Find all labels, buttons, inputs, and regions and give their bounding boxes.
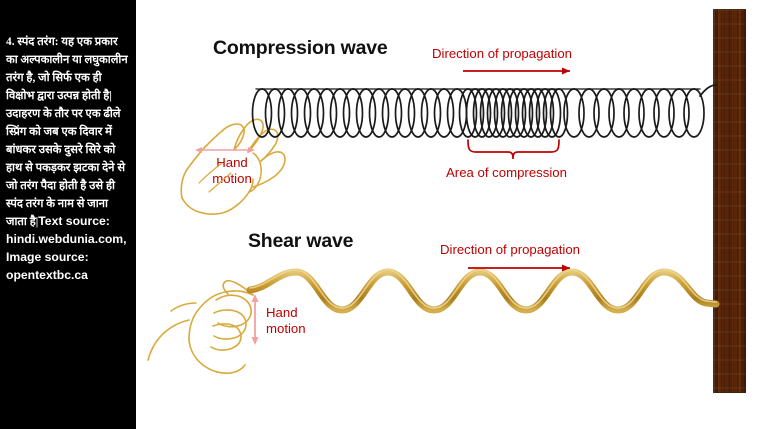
compression-direction-label: Direction of propagation (432, 46, 572, 61)
compression-propagation-arrow (463, 68, 570, 75)
wood-grain-texture (713, 9, 746, 393)
compression-hand-motion-arrow (195, 147, 255, 153)
compression-spring (253, 85, 717, 137)
compression-hand-motion-label: Hand motion (200, 155, 264, 187)
compression-wave-title: Compression wave (213, 37, 388, 60)
shear-hand-motion-label: Hand motion (266, 305, 328, 337)
caption-block: 4. स्पंद तरंग: यह एक प्रकार का अल्पकालीन… (6, 32, 131, 284)
slide-canvas: 4. स्पंद तरंग: यह एक प्रकार का अल्पकालीन… (0, 0, 774, 429)
caption-hindi-text: 4. स्पंद तरंग: यह एक प्रकार का अल्पकालीन… (6, 36, 131, 228)
shear-propagation-arrow (468, 265, 570, 272)
area-of-compression-brace (468, 140, 559, 159)
shear-hand-icon (148, 281, 253, 373)
shear-wave-rope (250, 270, 716, 310)
shear-wave-title: Shear wave (248, 230, 353, 253)
area-of-compression-label: Area of compression (446, 165, 567, 180)
shear-hand-motion-arrow (252, 294, 259, 345)
wooden-wall (713, 9, 746, 393)
caption-panel: 4. स्पंद तरंग: यह एक प्रकार का अल्पकालीन… (0, 0, 136, 429)
shear-direction-label: Direction of propagation (440, 242, 580, 257)
